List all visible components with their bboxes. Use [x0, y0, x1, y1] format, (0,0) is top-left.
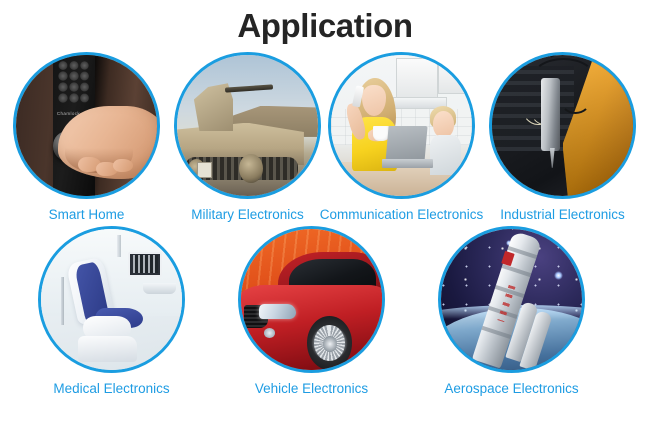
circle-aerospace-electronics[interactable] — [438, 226, 585, 373]
item-smart-home[interactable]: Chamlock Smart Home — [13, 52, 160, 199]
label-medical-electronics: Medical Electronics — [53, 381, 169, 397]
label-industrial-electronics: Industrial Electronics — [500, 207, 625, 223]
label-vehicle-electronics: Vehicle Electronics — [255, 381, 368, 397]
circle-industrial-electronics[interactable] — [489, 52, 636, 199]
item-industrial-electronics[interactable]: Industrial Electronics — [489, 52, 636, 199]
item-aerospace-electronics[interactable]: Aerospace Electronics — [438, 226, 585, 373]
item-military-electronics[interactable]: Military Electronics — [174, 52, 321, 199]
circle-military-electronics[interactable] — [174, 52, 321, 199]
smart-home-image: Chamlock — [16, 55, 157, 196]
medical-electronics-image — [41, 229, 182, 370]
circle-vehicle-electronics[interactable] — [238, 226, 385, 373]
circle-communication-electronics[interactable] — [328, 52, 475, 199]
circle-smart-home[interactable]: Chamlock — [13, 52, 160, 199]
label-smart-home: Smart Home — [49, 207, 125, 223]
industrial-electronics-image — [492, 55, 633, 196]
application-page: Application Chamlock S — [0, 0, 650, 444]
circle-medical-electronics[interactable] — [38, 226, 185, 373]
page-title: Application — [0, 4, 650, 48]
label-military-electronics: Military Electronics — [191, 207, 304, 223]
label-aerospace-electronics: Aerospace Electronics — [444, 381, 578, 397]
aerospace-electronics-image — [441, 229, 582, 370]
item-vehicle-electronics[interactable]: Vehicle Electronics — [238, 226, 385, 373]
military-electronics-image — [177, 55, 318, 196]
vehicle-electronics-image — [241, 229, 382, 370]
label-communication-electronics: Communication Electronics — [320, 207, 484, 223]
communication-electronics-image — [331, 55, 472, 196]
item-communication-electronics[interactable]: Communication Electronics — [328, 52, 475, 199]
item-medical-electronics[interactable]: Medical Electronics — [38, 226, 185, 373]
